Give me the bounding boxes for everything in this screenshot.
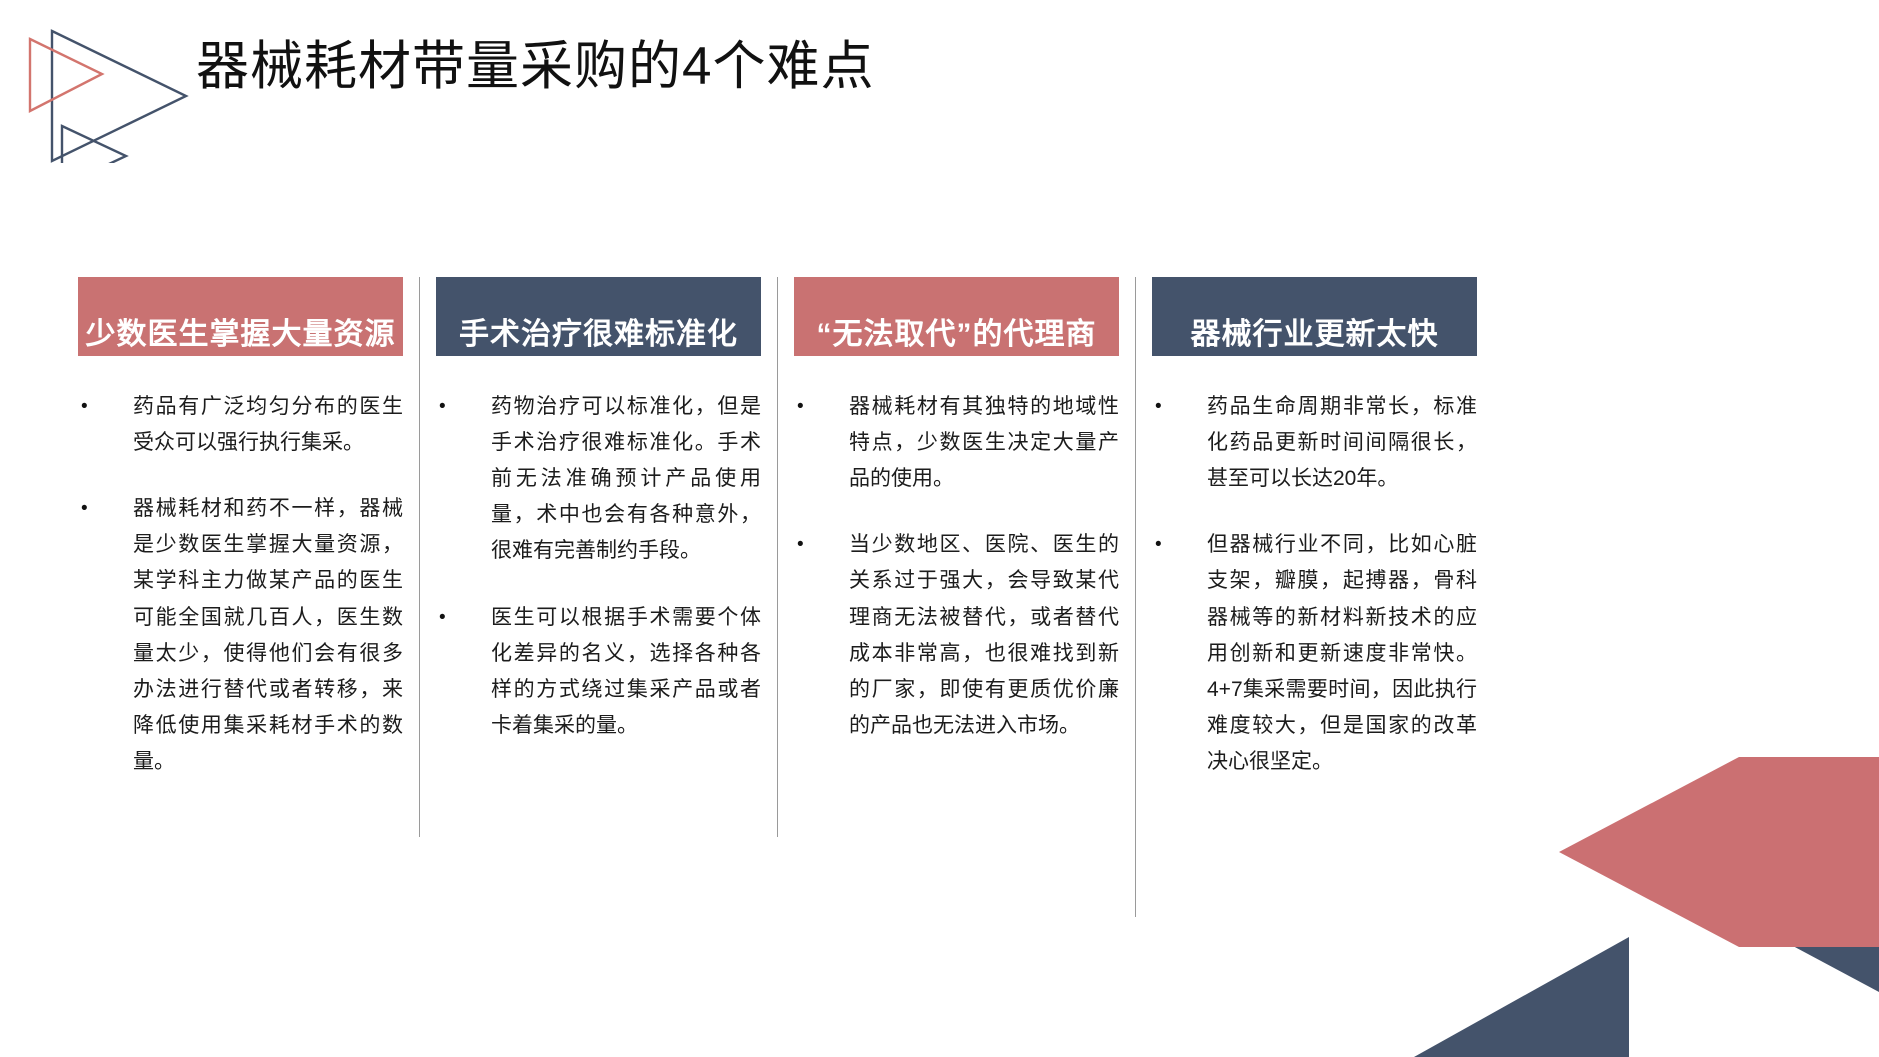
- slide-canvas: 器械耗材带量采购的4个难点 少数医生掌握大量资源 • 药品有广泛均匀分布的医生受…: [0, 0, 1879, 1057]
- bullet-text: 当少数地区、医院、医生的关系过于强大，会导致某代理商无法被替代，或者替代成本非常…: [849, 527, 1119, 744]
- bullet-text: 但器械行业不同，比如心脏支架，瓣膜，起搏器，骨科器械等的新材料新技术的应用创新和…: [1207, 527, 1477, 780]
- column-4-header-label: 器械行业更新太快: [1191, 320, 1439, 350]
- list-item: • 但器械行业不同，比如心脏支架，瓣膜，起搏器，骨科器械等的新材料新技术的应用创…: [1152, 527, 1477, 780]
- column-1-header: 少数医生掌握大量资源: [78, 277, 403, 356]
- list-item: • 器械耗材有其独特的地域性特点，少数医生决定大量产品的使用。: [794, 389, 1119, 497]
- bullet-text: 器械耗材和药不一样，器械是少数医生掌握大量资源，某学科主力做某产品的医生可能全国…: [133, 491, 403, 780]
- small-navy-triangle-icon: [62, 126, 126, 163]
- bullet-marker-icon: •: [436, 600, 491, 744]
- column-4: 器械行业更新太快 • 药品生命周期非常长，标准化药品更新时间间隔很长，甚至可以长…: [1152, 277, 1477, 810]
- list-item: • 医生可以根据手术需要个体化差异的名义，选择各种各样的方式绕过集采产品或者卡着…: [436, 600, 761, 744]
- list-item: • 药品生命周期非常长，标准化药品更新时间间隔很长，甚至可以长达20年。: [1152, 389, 1477, 497]
- column-4-bullets: • 药品生命周期非常长，标准化药品更新时间间隔很长，甚至可以长达20年。 • 但…: [1152, 356, 1477, 780]
- bullet-marker-icon: •: [78, 491, 133, 780]
- column-3: “无法取代”的代理商 • 器械耗材有其独特的地域性特点，少数医生决定大量产品的使…: [794, 277, 1119, 774]
- bullet-marker-icon: •: [794, 527, 849, 744]
- bullet-text: 医生可以根据手术需要个体化差异的名义，选择各种各样的方式绕过集采产品或者卡着集采…: [491, 600, 761, 744]
- column-2-bullets: • 药物治疗可以标准化，但是手术治疗很难标准化。手术前无法准确预计产品使用量，术…: [436, 356, 761, 744]
- column-divider: [777, 277, 778, 837]
- bullet-text: 药品有广泛均匀分布的医生受众可以强行执行集采。: [133, 389, 403, 461]
- bullet-marker-icon: •: [1152, 389, 1207, 497]
- bullet-text: 器械耗材有其独特的地域性特点，少数医生决定大量产品的使用。: [849, 389, 1119, 497]
- navy-triangle-small-icon: [1414, 937, 1629, 1057]
- bullet-text: 药物治疗可以标准化，但是手术治疗很难标准化。手术前无法准确预计产品使用量，术中也…: [491, 389, 761, 570]
- column-3-header-label: “无法取代”的代理商: [817, 320, 1097, 350]
- bullet-marker-icon: •: [794, 389, 849, 497]
- list-item: • 药物治疗可以标准化，但是手术治疗很难标准化。手术前无法准确预计产品使用量，术…: [436, 389, 761, 570]
- column-divider: [419, 277, 420, 837]
- column-gap-1: [403, 277, 436, 810]
- list-item: • 药品有广泛均匀分布的医生受众可以强行执行集采。: [78, 389, 403, 461]
- column-1: 少数医生掌握大量资源 • 药品有广泛均匀分布的医生受众可以强行执行集采。 • 器…: [78, 277, 403, 810]
- column-divider: [1135, 277, 1136, 917]
- bullet-marker-icon: •: [1152, 527, 1207, 780]
- column-3-header: “无法取代”的代理商: [794, 277, 1119, 356]
- triangle-play-logo: [14, 18, 199, 163]
- bullet-marker-icon: •: [78, 389, 133, 461]
- columns-container: 少数医生掌握大量资源 • 药品有广泛均匀分布的医生受众可以强行执行集采。 • 器…: [78, 277, 1478, 810]
- navy-arrow-icon: [1664, 762, 1879, 992]
- column-gap-2: [761, 277, 794, 810]
- bullet-text: 药品生命周期非常长，标准化药品更新时间间隔很长，甚至可以长达20年。: [1207, 389, 1477, 497]
- page-title: 器械耗材带量采购的4个难点: [196, 36, 874, 99]
- column-1-header-label: 少数医生掌握大量资源: [86, 320, 396, 350]
- column-1-bullets: • 药品有广泛均匀分布的医生受众可以强行执行集采。 • 器械耗材和药不一样，器械…: [78, 356, 403, 780]
- red-chevron-icon: [1559, 757, 1879, 947]
- bullet-marker-icon: •: [436, 389, 491, 570]
- column-2-header: 手术治疗很难标准化: [436, 277, 761, 356]
- list-item: • 器械耗材和药不一样，器械是少数医生掌握大量资源，某学科主力做某产品的医生可能…: [78, 491, 403, 780]
- column-gap-3: [1119, 277, 1152, 810]
- list-item: • 当少数地区、医院、医生的关系过于强大，会导致某代理商无法被替代，或者替代成本…: [794, 527, 1119, 744]
- column-2-header-label: 手术治疗很难标准化: [459, 320, 738, 350]
- column-4-header: 器械行业更新太快: [1152, 277, 1477, 356]
- column-3-bullets: • 器械耗材有其独特的地域性特点，少数医生决定大量产品的使用。 • 当少数地区、…: [794, 356, 1119, 744]
- column-2: 手术治疗很难标准化 • 药物治疗可以标准化，但是手术治疗很难标准化。手术前无法准…: [436, 277, 761, 774]
- large-navy-triangle-icon: [52, 31, 186, 161]
